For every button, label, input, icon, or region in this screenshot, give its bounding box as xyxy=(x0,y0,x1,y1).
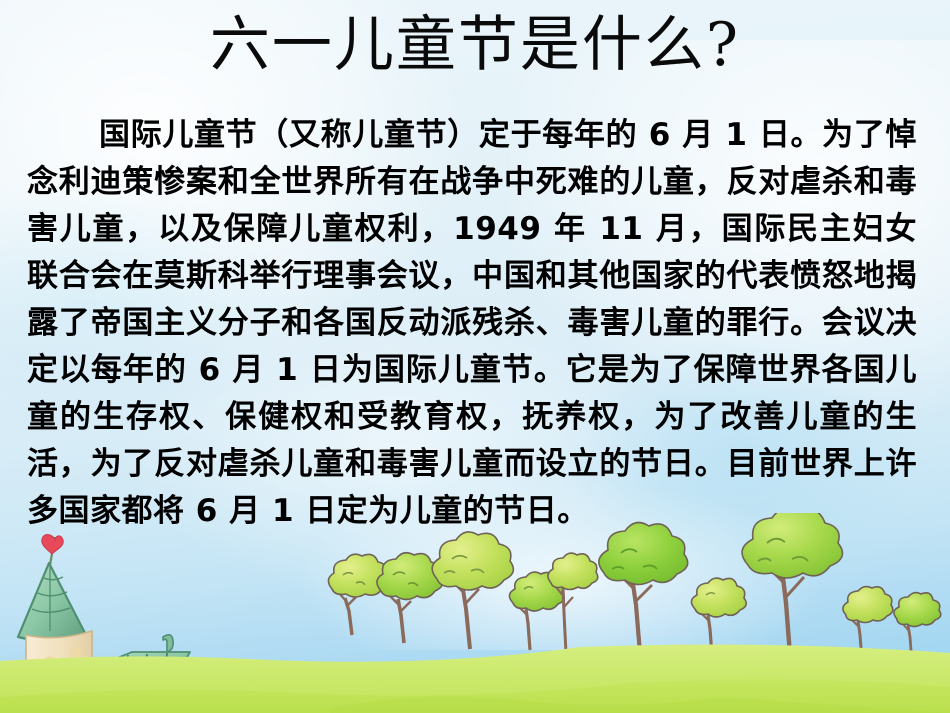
chimney xyxy=(163,635,173,652)
bottom-scenery-illustration xyxy=(0,513,950,713)
tree xyxy=(691,578,746,656)
heart-icon xyxy=(42,535,64,554)
tree-group xyxy=(328,513,940,663)
tree xyxy=(328,554,388,635)
tree xyxy=(599,522,688,653)
slide-canvas: 六一儿童节是什么? 国际儿童节（又称儿童节）定于每年的 6 月 1 日。为了悼念… xyxy=(0,0,950,713)
tower-roof xyxy=(18,563,86,641)
slide-title: 六一儿童节是什么? xyxy=(0,8,950,83)
slide-body-paragraph: 国际儿童节（又称儿童节）定于每年的 6 月 1 日。为了悼念利迪策惨案和全世界所… xyxy=(27,112,917,535)
tree xyxy=(432,532,513,649)
